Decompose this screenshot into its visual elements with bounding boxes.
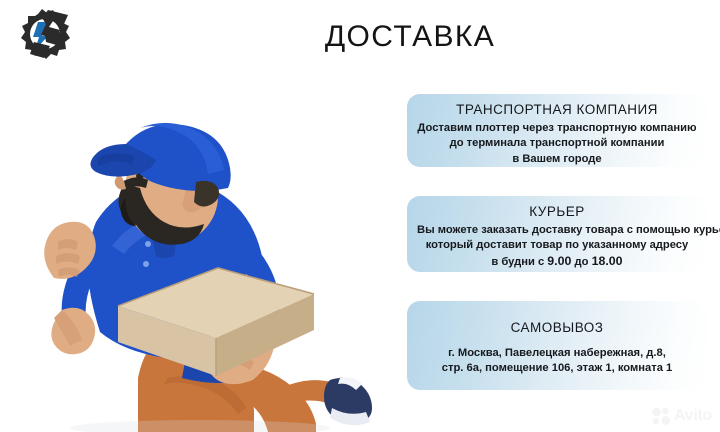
avito-watermark: Avito [651,406,712,426]
delivery-option-card-transport-company: ТРАНСПОРТНАЯ КОМПАНИЯ Доставим плоттер ч… [407,94,707,167]
delivery-option-card-pickup: САМОВЫВОЗ г. Москва, Павелецкая набережн… [407,301,707,390]
hours-prefix: в будни с [491,256,547,268]
card-title-pickup: САМОВЫВОЗ [417,319,697,337]
avito-watermark-text: Avito [674,407,712,425]
card-line-working-hours: в будни с 9.00 до 18.00 [417,254,697,270]
delivery-info-banner: ДОСТАВКА [0,0,720,432]
hours-middle: до [571,256,591,268]
card-title-transport-company: ТРАНСПОРТНАЯ КОМПАНИЯ [417,101,697,119]
card-line: Доставим плоттер через транспортную комп… [417,121,697,136]
company-logo [8,6,76,70]
card-line: который доставит товар по указанному адр… [417,238,697,253]
hours-to: 18.00 [592,254,623,268]
card-line: стр. 6а, помещение 106, этаж 1, комната … [417,361,697,376]
card-body-courier: Вы можете заказать доставку товара с пом… [417,223,697,270]
avito-logo-icon [651,406,671,426]
card-title-courier: КУРЬЕР [417,203,697,221]
gear-arrow-icon [8,6,76,70]
courier-photo [0,78,400,432]
hours-from: 9.00 [547,254,571,268]
card-line: г. Москва, Павелецкая набережная, д.8, [417,346,697,361]
card-line: в Вашем городе [417,152,697,167]
card-body-transport-company: Доставим плоттер через транспортную комп… [417,121,697,167]
delivery-option-card-courier: КУРЬЕР Вы можете заказать доставку товар… [407,196,707,272]
courier-illustration [0,78,400,432]
page-title: ДОСТАВКА [250,20,570,54]
card-body-pickup: г. Москва, Павелецкая набережная, д.8, с… [417,346,697,377]
card-line: Вы можете заказать доставку товара с пом… [417,223,697,238]
card-line: до терминала транспортной компании [417,136,697,151]
